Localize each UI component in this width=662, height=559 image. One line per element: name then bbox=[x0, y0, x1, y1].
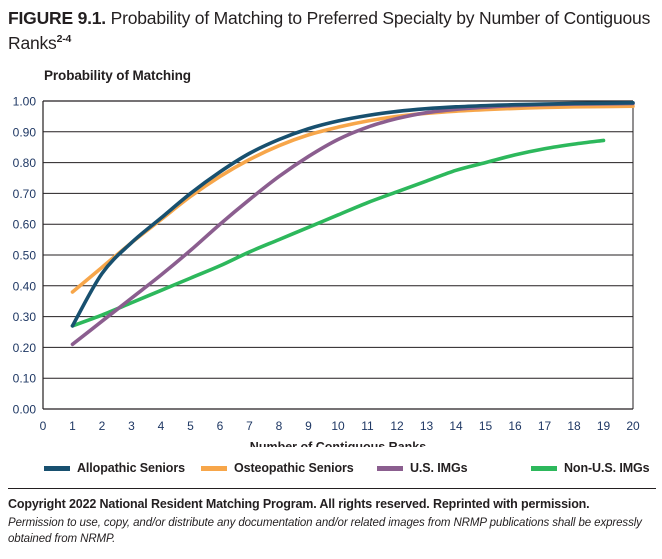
x-axis-title: Number of Contiguous Ranks bbox=[250, 440, 426, 447]
legend-swatch-icon bbox=[531, 466, 557, 471]
x-tick-label: 2 bbox=[99, 419, 106, 433]
y-tick-label: 0.20 bbox=[13, 341, 37, 355]
x-tick-label: 9 bbox=[305, 419, 312, 433]
x-tick-label: 5 bbox=[187, 419, 194, 433]
y-tick-label: 0.80 bbox=[13, 156, 37, 170]
y-tick-label: 0.50 bbox=[13, 249, 37, 263]
x-tick-label: 6 bbox=[217, 419, 224, 433]
x-tick-label: 3 bbox=[128, 419, 135, 433]
footer-divider bbox=[8, 488, 656, 489]
x-tick-label: 16 bbox=[508, 419, 522, 433]
y-tick-label: 0.40 bbox=[13, 279, 37, 293]
series-line-non-u-s-imgs bbox=[73, 140, 604, 325]
x-tick-labels: 01234567891011121314151617181920 bbox=[40, 419, 640, 433]
y-tick-label: 0.00 bbox=[13, 403, 37, 417]
legend-swatch-icon bbox=[44, 466, 70, 471]
x-tick-label: 4 bbox=[158, 419, 165, 433]
legend-item-u-s-imgs[interactable]: U.S. IMGs bbox=[377, 461, 467, 475]
figure-label: FIGURE 9.1. bbox=[8, 8, 106, 28]
legend-label: Non-U.S. IMGs bbox=[564, 461, 650, 475]
x-tick-label: 12 bbox=[390, 419, 404, 433]
legend-swatch-icon bbox=[377, 466, 403, 471]
x-tick-label: 8 bbox=[276, 419, 283, 433]
footer-copyright: Copyright 2022 National Resident Matchin… bbox=[8, 496, 656, 513]
x-tick-label: 18 bbox=[567, 419, 581, 433]
x-tick-label: 20 bbox=[626, 419, 640, 433]
y-tick-label: 0.70 bbox=[13, 187, 37, 201]
y-tick-label: 0.60 bbox=[13, 218, 37, 232]
figure-title: FIGURE 9.1. Probability of Matching to P… bbox=[8, 6, 656, 56]
x-tick-label: 19 bbox=[597, 419, 611, 433]
legend-label: U.S. IMGs bbox=[410, 461, 467, 475]
line-chart-svg: 0.000.100.200.300.400.500.600.700.800.90… bbox=[0, 62, 662, 447]
legend-swatch-icon bbox=[201, 466, 227, 471]
chart-legend: Allopathic SeniorsOsteopathic SeniorsU.S… bbox=[0, 455, 662, 483]
footer: Copyright 2022 National Resident Matchin… bbox=[8, 496, 656, 547]
x-tick-label: 1 bbox=[69, 419, 76, 433]
legend-item-non-u-s-imgs[interactable]: Non-U.S. IMGs bbox=[531, 461, 650, 475]
figure-title-superscript: 2-4 bbox=[57, 33, 72, 45]
y-tick-labels: 0.000.100.200.300.400.500.600.700.800.90… bbox=[13, 95, 37, 417]
legend-item-osteopathic-seniors[interactable]: Osteopathic Seniors bbox=[201, 461, 354, 475]
series-lines bbox=[73, 103, 634, 344]
x-tick-label: 17 bbox=[538, 419, 552, 433]
x-tick-label: 11 bbox=[361, 419, 374, 433]
plot-area: 0.000.100.200.300.400.500.600.700.800.90… bbox=[0, 62, 662, 447]
chart-container: Probability of Matching 0.000.100.200.30… bbox=[0, 62, 662, 447]
legend-item-allopathic-seniors[interactable]: Allopathic Seniors bbox=[44, 461, 185, 475]
legend-label: Osteopathic Seniors bbox=[234, 461, 354, 475]
x-tick-label: 10 bbox=[331, 419, 345, 433]
y-tick-label: 0.30 bbox=[13, 310, 37, 324]
x-tick-label: 15 bbox=[479, 419, 493, 433]
x-axis-title-group: Number of Contiguous Ranks bbox=[250, 440, 426, 447]
y-tick-label: 0.10 bbox=[13, 372, 37, 386]
x-tick-label: 13 bbox=[420, 419, 434, 433]
x-tick-label: 7 bbox=[246, 419, 253, 433]
y-tick-label: 1.00 bbox=[13, 95, 37, 109]
x-tick-label: 0 bbox=[40, 419, 47, 433]
legend-label: Allopathic Seniors bbox=[77, 461, 185, 475]
x-tick-label: 14 bbox=[449, 419, 463, 433]
y-tick-label: 0.90 bbox=[13, 125, 37, 139]
footer-permission-note: Permission to use, copy, and/or distribu… bbox=[8, 515, 656, 547]
